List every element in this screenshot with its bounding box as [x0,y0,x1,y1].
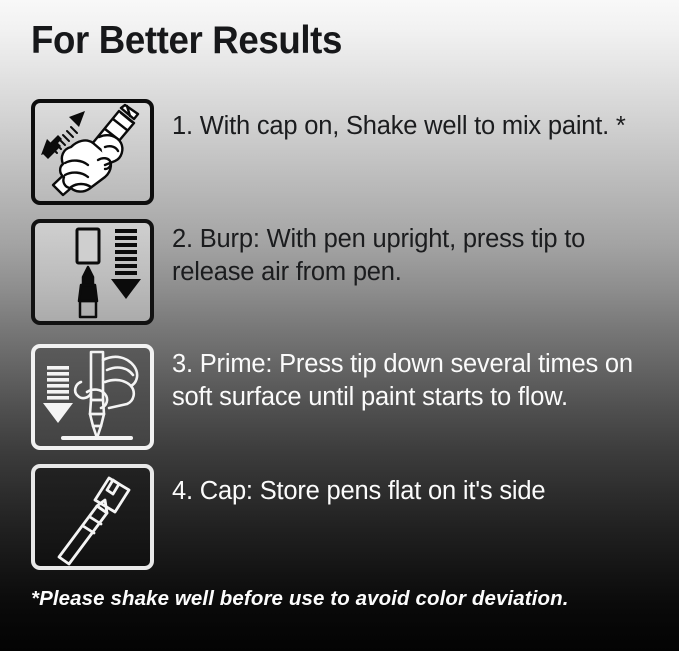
prime-press-tip-icon [31,344,154,450]
instruction-step-1-text: 1. With cap on, Shake well to mix paint.… [172,99,626,143]
instruction-step-2: 2. Burp: With pen upright, press tip to … [31,219,651,325]
cap-store-flat-icon [31,464,154,570]
instruction-step-3: 3. Prime: Press tip down several times o… [31,344,651,450]
burp-pen-upright-icon [31,219,154,325]
instruction-step-3-text: 3. Prime: Press tip down several times o… [172,344,651,414]
instruction-step-2-text: 2. Burp: With pen upright, press tip to … [172,219,651,289]
shake-pen-icon [31,99,154,205]
page-title: For Better Results [31,19,595,63]
instruction-panel: For Better Results [0,0,679,651]
instruction-step-1: 1. With cap on, Shake well to mix paint.… [31,99,651,205]
instruction-step-4: 4. Cap: Store pens flat on it's side [31,464,651,570]
footnote-text: *Please shake well before use to avoid c… [31,586,569,612]
instruction-step-4-text: 4. Cap: Store pens flat on it's side [172,464,545,508]
